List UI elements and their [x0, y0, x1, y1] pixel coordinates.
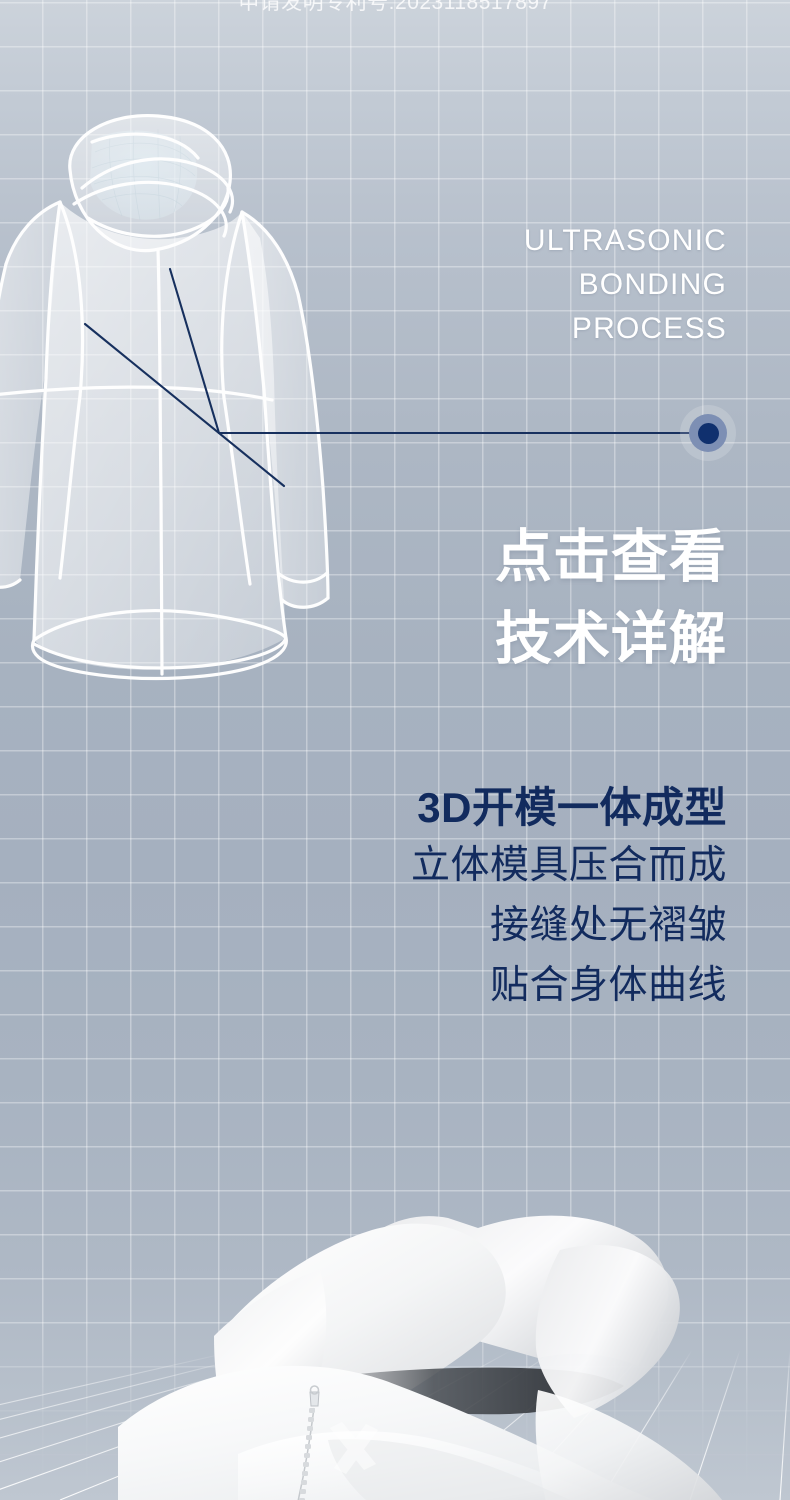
eyebrow-line-3: PROCESS: [427, 307, 727, 351]
cta-headline-line-2: 技术详解: [327, 598, 727, 680]
hoodie-3d-render: [118, 1140, 728, 1500]
feature-block: 3D开模一体成型 立体模具压合而成 接缝处无褶皱 贴合身体曲线: [297, 780, 727, 1016]
hotspot-core: [698, 423, 719, 444]
hotspot-marker[interactable]: [680, 405, 736, 461]
perspective-grid-floor: [0, 1350, 790, 1500]
eyebrow-line-1: ULTRASONIC: [427, 219, 727, 263]
x-logo: [330, 1422, 378, 1474]
eyebrow-line-2: BONDING: [427, 263, 727, 307]
patent-number-label: 申请发明专利号:2023118517897: [0, 0, 790, 16]
feature-line-3: 贴合身体曲线: [297, 956, 727, 1016]
hotspot-ring: [689, 414, 727, 452]
feature-line-1: 立体模具压合而成: [297, 836, 727, 896]
feature-line-2: 接缝处无褶皱: [297, 896, 727, 956]
poster-canvas: 申请发明专利号:2023118517897 ULTRASONIC BONDING…: [0, 0, 790, 1500]
wireframe-hoodie-illustration: [0, 78, 372, 718]
feature-title: 3D开模一体成型: [297, 780, 727, 836]
cta-headline[interactable]: 点击查看 技术详解: [327, 516, 727, 680]
cta-headline-line-1: 点击查看: [327, 516, 727, 598]
eyebrow-text: ULTRASONIC BONDING PROCESS: [427, 219, 727, 351]
